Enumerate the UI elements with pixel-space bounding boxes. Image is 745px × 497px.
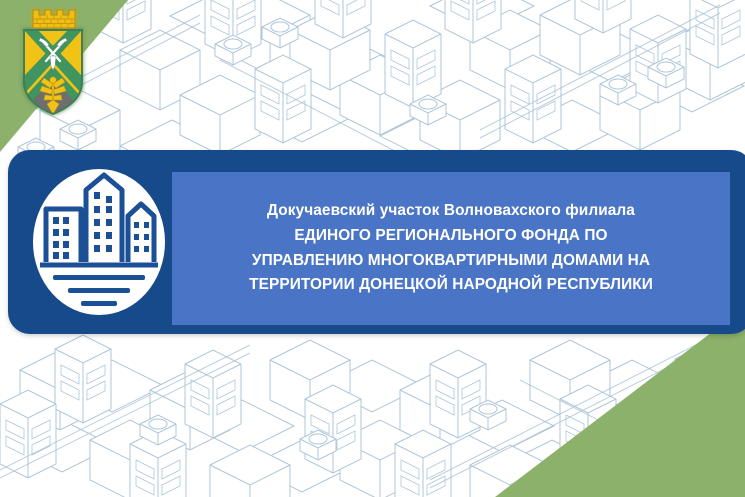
banner-line-4: ТЕРРИТОРИИ ДОНЕЦКОЙ НАРОДНОЙ РЕСПУБЛИКИ xyxy=(249,273,653,298)
banner-line-2: ЕДИНОГО РЕГИОНАЛЬНОГО ФОНДА ПО xyxy=(294,224,607,249)
banner-text-panel: Докучаевский участок Волновахского филиа… xyxy=(172,172,730,325)
banner-line-1: Докучаевский участок Волновахского филиа… xyxy=(267,199,635,224)
title-banner: Докучаевский участок Волновахского филиа… xyxy=(8,150,745,334)
coat-of-arms-emblem xyxy=(14,6,92,118)
shield-field xyxy=(22,28,84,118)
mural-crown-icon xyxy=(33,10,75,28)
banner-image-canvas: Докучаевский участок Волновахского филиа… xyxy=(0,0,745,497)
banner-line-3: УПРАВЛЕНИЮ МНОГОКВАРТИРНЫМИ ДОМАМИ НА xyxy=(252,249,650,274)
apartment-buildings-logo xyxy=(24,162,174,322)
